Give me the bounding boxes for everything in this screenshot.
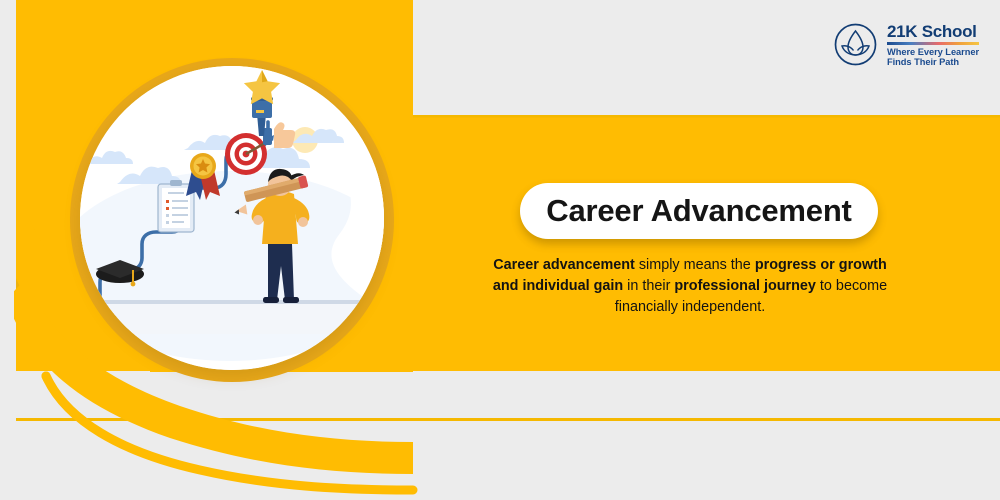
brand-logo: 21K School Where Every Learner Finds The… [833,22,979,68]
ground-band [80,304,384,334]
person-hand-right [298,217,308,227]
lotus-circle-icon [833,22,878,67]
page-title-text: Career Advancement [546,193,851,229]
brand-text: 21K School Where Every Learner Finds The… [887,22,979,68]
page-title: Career Advancement [520,183,878,239]
brand-name: 21K School [887,22,979,41]
person-hand-left [253,215,263,225]
description-run-1: simply means the [635,257,755,273]
left-gray-margin-front [0,0,14,500]
top-divider-line [413,115,1000,118]
illustration-circle [70,58,394,382]
person-shoe-left [263,297,279,303]
brand-gradient-rule [887,42,979,45]
brand-tagline-line1: Where Every Learner [887,47,979,58]
description-text: Career advancement simply means the prog… [480,255,900,318]
description-run-4: professional journey [674,278,816,294]
career-staircase-illustration [80,66,384,370]
circle-inner [80,66,384,370]
ground-line [80,300,384,304]
banner-canvas: Career Advancement Career advancement si… [0,0,1000,500]
brand-tagline-line2: Finds Their Path [887,57,979,68]
person-shirt [262,191,298,244]
person-shoe-right [283,297,299,303]
description-run-3: in their [623,278,674,294]
description-run-0: Career advancement [493,257,635,273]
brand-tagline: Where Every Learner Finds Their Path [887,47,979,68]
